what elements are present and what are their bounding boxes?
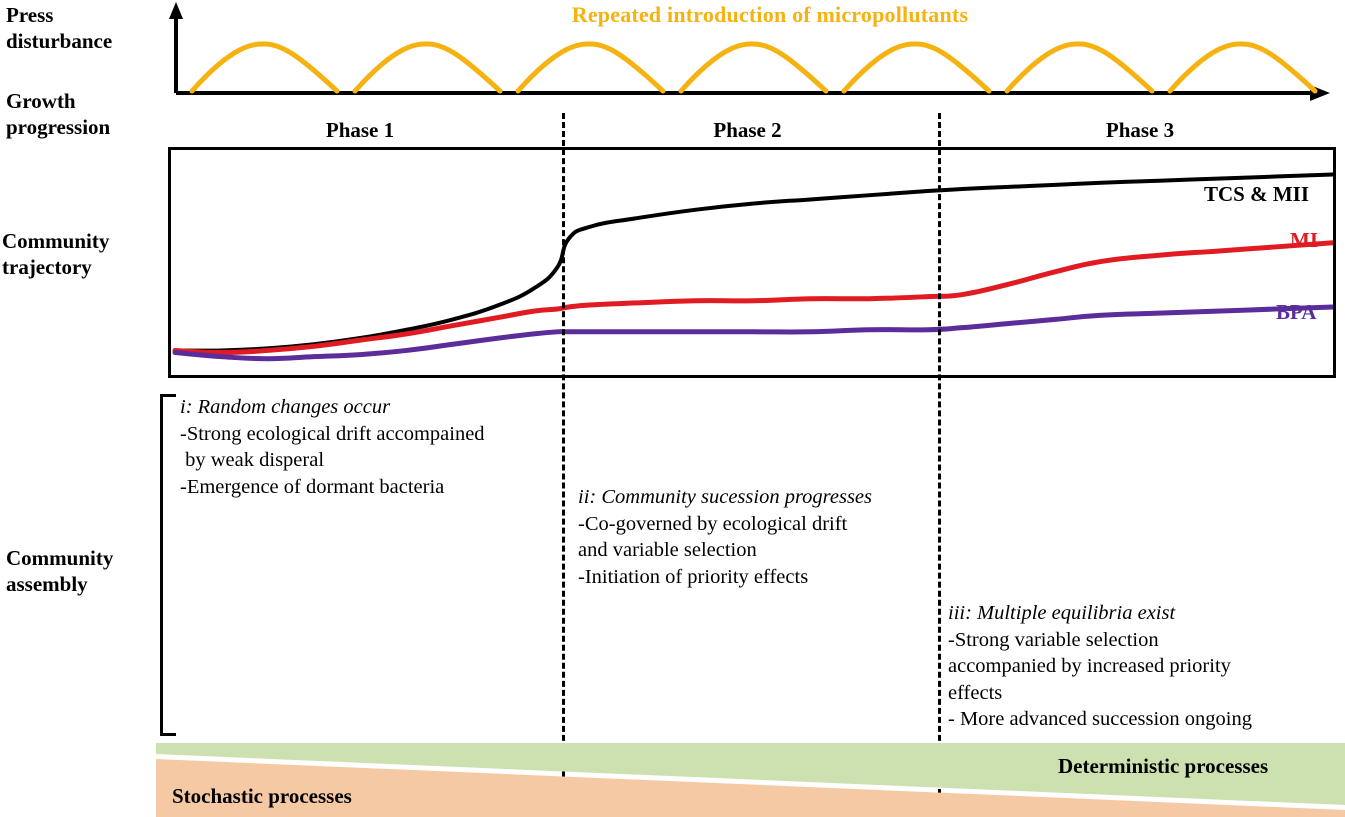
stochastic-processes-label: Stochastic processes — [172, 784, 352, 809]
note-i-line-3: -Emergence of dormant bacteria — [180, 474, 560, 501]
note-ii-line-1: -Co-governed by ecological drift — [578, 511, 938, 538]
community-trajectory-panel — [168, 147, 1336, 378]
note-i-heading: i: Random changes occur — [180, 394, 560, 421]
phase-label-1: Phase 1 — [200, 118, 520, 143]
note-iii-line-4: - More advanced succession ongoing — [948, 706, 1338, 733]
series-curve-mi — [175, 243, 1333, 353]
series-curve-bpa — [175, 307, 1333, 359]
community-trajectory-chart — [171, 150, 1333, 375]
row-label-community-trajectory: Community trajectory — [2, 228, 162, 280]
series-label-tcs-mii: TCS & MII — [1204, 182, 1309, 207]
note-block-iii: iii: Multiple equilibria exist -Strong v… — [948, 600, 1338, 733]
note-iii-line-2: accompanied by increased priority — [948, 653, 1338, 680]
figure-root: Press disturbance Growth progression Com… — [0, 0, 1345, 817]
note-iii-line-1: -Strong variable selection — [948, 627, 1338, 654]
phase-label-3: Phase 3 — [955, 118, 1325, 143]
row-label-community-assembly: Community assembly — [6, 545, 156, 597]
series-label-mi: MI — [1290, 228, 1318, 253]
note-iii-heading: iii: Multiple equilibria exist — [948, 600, 1338, 627]
micropollutant-wave-group — [192, 44, 1315, 91]
note-ii-line-3: -Initiation of priority effects — [578, 564, 938, 591]
note-i-line-2: by weak disperal — [180, 447, 560, 474]
phase-label-2: Phase 2 — [570, 118, 925, 143]
phase-divider-2 — [938, 113, 941, 813]
row-label-press-disturbance: Press disturbance — [6, 2, 156, 54]
note-block-i: i: Random changes occur -Strong ecologic… — [180, 394, 560, 500]
note-i-line-1: -Strong ecological drift accompained — [180, 421, 560, 448]
community-assembly-bracket — [160, 394, 176, 736]
note-ii-line-2: and variable selection — [578, 537, 938, 564]
disturbance-title: Repeated introduction of micropollutants — [490, 2, 1050, 28]
row-label-growth-progression: Growth progression — [6, 88, 156, 140]
y-axis-arrowhead-icon — [169, 2, 183, 19]
note-iii-line-3: effects — [948, 680, 1338, 707]
press-disturbance-panel: Repeated introduction of micropollutants… — [160, 0, 1345, 112]
series-curve-tcs-mii — [175, 174, 1333, 350]
note-ii-heading: ii: Community sucession progresses — [578, 484, 938, 511]
series-label-bpa: BPA — [1276, 300, 1316, 325]
deterministic-processes-label: Deterministic processes — [1058, 754, 1268, 779]
note-block-ii: ii: Community sucession progresses -Co-g… — [578, 484, 938, 590]
phase-divider-1 — [562, 113, 565, 813]
